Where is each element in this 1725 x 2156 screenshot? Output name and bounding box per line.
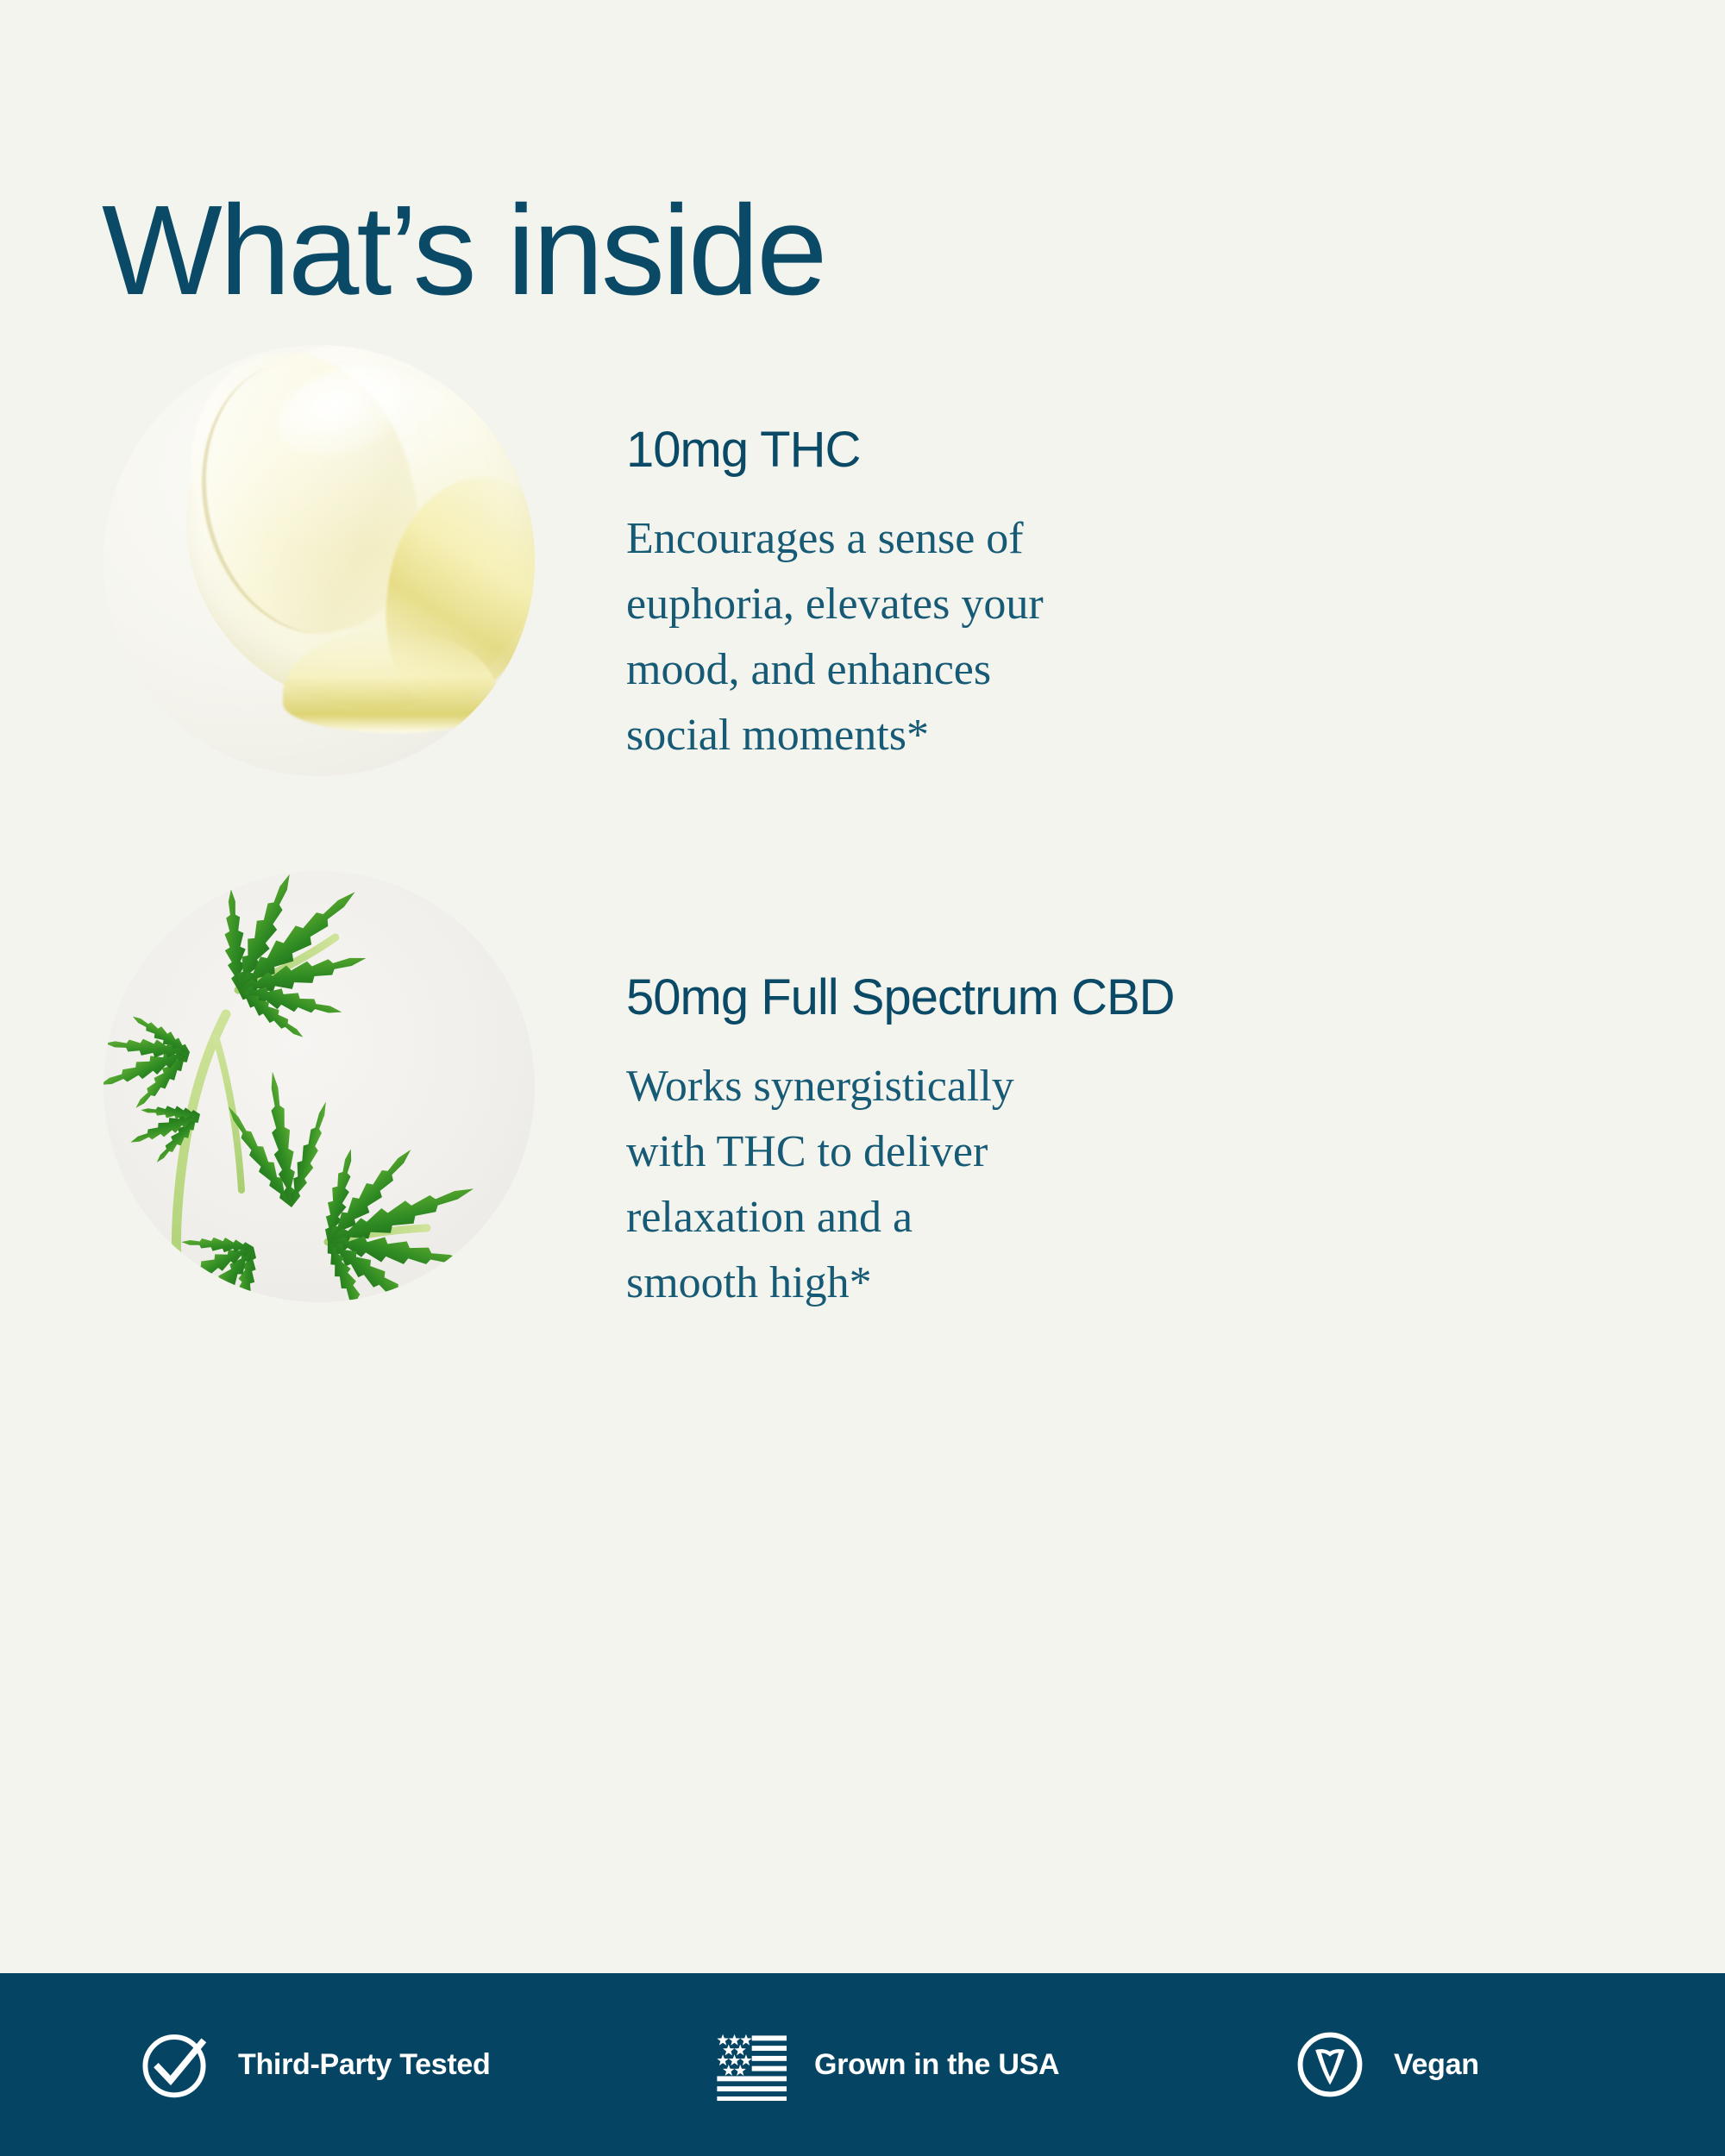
ingredient-row: 10mg THC Encourages a sense of euphoria,… (0, 345, 1725, 793)
whats-inside-panel: { "page": { "title": "What’s inside", "b… (0, 0, 1725, 2156)
trust-badge-vegan: Vegan (1294, 2028, 1479, 2101)
trust-badge-label: Grown in the USA (814, 2048, 1059, 2082)
thc-oil-droplet-photo (103, 345, 535, 776)
trust-badge-label: Third-Party Tested (238, 2048, 490, 2082)
vegan-v-circle-icon (1294, 2028, 1366, 2101)
ingredient-description: Encourages a sense of euphoria, elevates… (626, 506, 1044, 768)
check-circle-icon (138, 2028, 210, 2101)
ingredient-description: Works synergistically with THC to delive… (626, 1054, 1175, 1316)
trust-badge-label: Vegan (1394, 2048, 1479, 2082)
cannabis-leaves-photo (103, 871, 535, 1302)
leaf-plate-background (103, 871, 535, 1302)
ingredient-text-block: 50mg Full Spectrum CBD Works synergistic… (626, 970, 1175, 1316)
ingredient-row: 50mg Full Spectrum CBD Works synergistic… (0, 871, 1725, 1319)
oil-plate-background (103, 345, 535, 776)
page-title: What’s inside (102, 187, 825, 315)
trust-banner: Third-Party Tested (0, 1973, 1725, 2156)
ingredient-heading: 10mg THC (626, 423, 1044, 479)
trust-badge-third-party-tested: Third-Party Tested (138, 2028, 490, 2101)
usa-flag-icon (714, 2028, 787, 2101)
trust-badge-grown-in-usa: Grown in the USA (714, 2028, 1059, 2101)
ingredient-text-block: 10mg THC Encourages a sense of euphoria,… (626, 423, 1044, 768)
ingredient-heading: 50mg Full Spectrum CBD (626, 970, 1175, 1026)
